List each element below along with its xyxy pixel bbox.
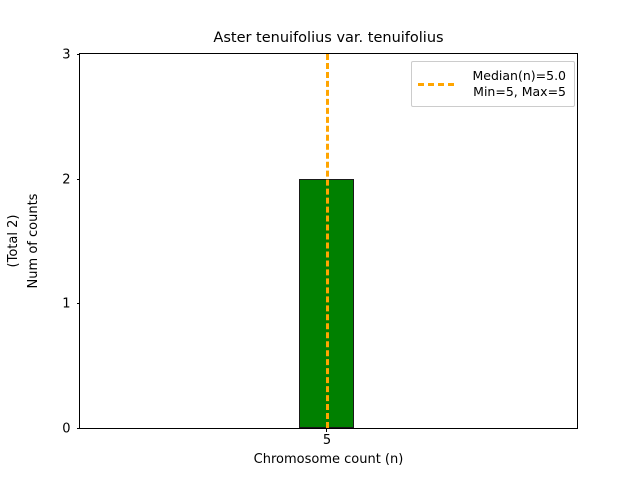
- figure-canvas: Aster tenuifolius var. tenuifolius (Tota…: [0, 0, 640, 480]
- y-tick-label-0: 0: [62, 422, 70, 437]
- y-axis-label-line1: Num of counts: [24, 194, 44, 289]
- y-axis-label-container: (Total 2) Num of counts: [0, 53, 48, 429]
- y-tick-label-3: 3: [62, 48, 70, 63]
- median-line: [326, 54, 329, 428]
- legend-median-line-icon: [418, 83, 454, 86]
- plot-inner: [80, 54, 577, 428]
- plot-area: 0 1 2 3 5 Median(n)=5.0 Min=5, Max=5: [79, 53, 578, 429]
- x-axis-label: Chromosome count (n): [79, 452, 578, 467]
- y-tick-0: 0: [77, 428, 81, 429]
- x-tick-5: 5: [326, 428, 327, 432]
- y-axis-label: (Total 2) Num of counts: [4, 194, 44, 289]
- y-tick-label-2: 2: [62, 172, 70, 187]
- legend-label-minmax: Min=5, Max=5: [461, 84, 566, 100]
- y-axis-label-line2: (Total 2): [4, 194, 24, 289]
- legend-label-median: Median(n)=5.0: [461, 68, 566, 84]
- legend: Median(n)=5.0 Min=5, Max=5: [411, 61, 575, 107]
- chart-title: Aster tenuifolius var. tenuifolius: [79, 30, 578, 47]
- legend-text: Median(n)=5.0 Min=5, Max=5: [461, 68, 566, 100]
- x-tick-label-5: 5: [323, 433, 331, 448]
- y-tick-label-1: 1: [62, 297, 70, 312]
